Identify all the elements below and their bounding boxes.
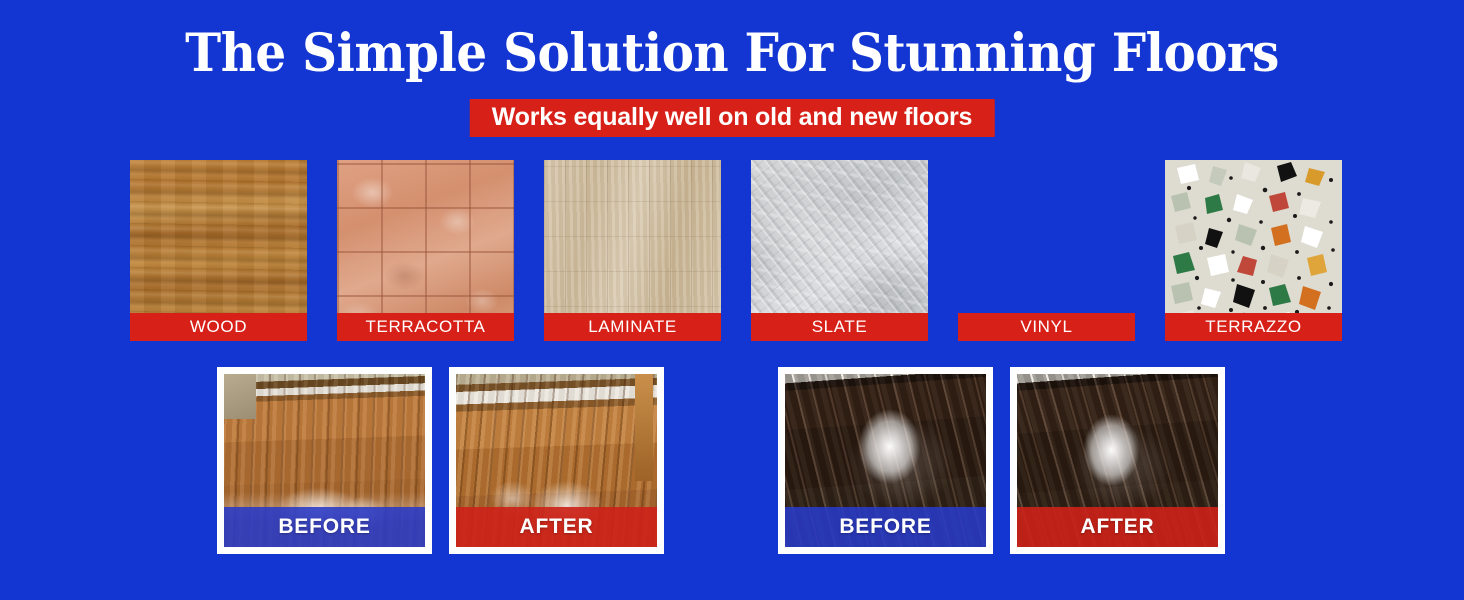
material-swatch-row: WOOD TERRACOTTA LAMINATE SLATE VINYL: [130, 160, 1342, 341]
subtitle-banner: Works equally well on old and new floors: [470, 99, 995, 137]
material-label: VINYL: [958, 313, 1135, 341]
material-label: TERRACOTTA: [337, 313, 514, 341]
material-swatch-terrazzo[interactable]: TERRAZZO: [1165, 160, 1342, 341]
material-swatch-laminate[interactable]: LAMINATE: [544, 160, 721, 341]
page-title: The Simple Solution For Stunning Floors: [51, 24, 1413, 84]
material-swatch-vinyl[interactable]: VINYL: [958, 160, 1135, 341]
after-label: AFTER: [456, 507, 657, 547]
vinyl-roll-edge-shape: [958, 160, 1088, 199]
vinyl-roll-shape: [958, 160, 1088, 199]
material-swatch-slate[interactable]: SLATE: [751, 160, 928, 341]
before-label: BEFORE: [224, 507, 425, 547]
material-label: WOOD: [130, 313, 307, 341]
material-label: TERRAZZO: [1165, 313, 1342, 341]
comparison-pair-1: BEFORE AFTER: [217, 367, 664, 554]
before-card-2[interactable]: BEFORE: [778, 367, 993, 554]
material-label: SLATE: [751, 313, 928, 341]
material-label: LAMINATE: [544, 313, 721, 341]
subtitle-text: Works equally well on old and new floors: [492, 103, 973, 132]
before-label: BEFORE: [785, 507, 986, 547]
material-swatch-terracotta[interactable]: TERRACOTTA: [337, 160, 514, 341]
after-card-1[interactable]: AFTER: [449, 367, 664, 554]
before-after-row: BEFORE AFTER BEFORE AFTER: [217, 367, 1249, 554]
material-swatch-wood[interactable]: WOOD: [130, 160, 307, 341]
comparison-pair-2: BEFORE AFTER: [778, 367, 1225, 554]
after-card-2[interactable]: AFTER: [1010, 367, 1225, 554]
before-card-1[interactable]: BEFORE: [217, 367, 432, 554]
after-label: AFTER: [1017, 507, 1218, 547]
